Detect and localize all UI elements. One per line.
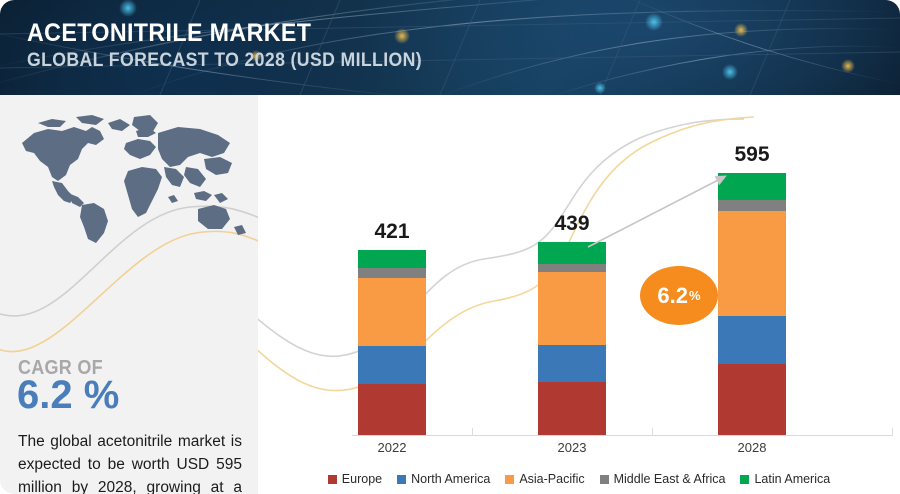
summary-description: The global acetonitrile market is expect… (18, 431, 242, 494)
growth-arrow-icon (258, 95, 900, 494)
cagr-badge-percent: % (689, 289, 701, 302)
page-subtitle: GLOBAL FORECAST TO 2028 (USD MILLION) (27, 51, 422, 72)
cagr-value: 6.2 % (17, 375, 119, 415)
page-title: ACETONITRILE MARKET (27, 20, 422, 47)
left-summary-panel: CAGR OF 6.2 % The global acetonitrile ma… (0, 95, 258, 494)
cagr-badge-number: 6.2 (657, 285, 688, 307)
infographic-page: ACETONITRILE MARKET GLOBAL FORECAST TO 2… (0, 0, 900, 494)
plot-area: 6.2 % 421439595 202220232028 (258, 95, 900, 455)
header-banner: ACETONITRILE MARKET GLOBAL FORECAST TO 2… (0, 0, 900, 95)
cagr-badge: 6.2 % (640, 266, 718, 325)
stacked-bar-chart: 6.2 % 421439595 202220232028 EuropeNorth… (258, 95, 900, 494)
world-map-icon (8, 109, 252, 249)
